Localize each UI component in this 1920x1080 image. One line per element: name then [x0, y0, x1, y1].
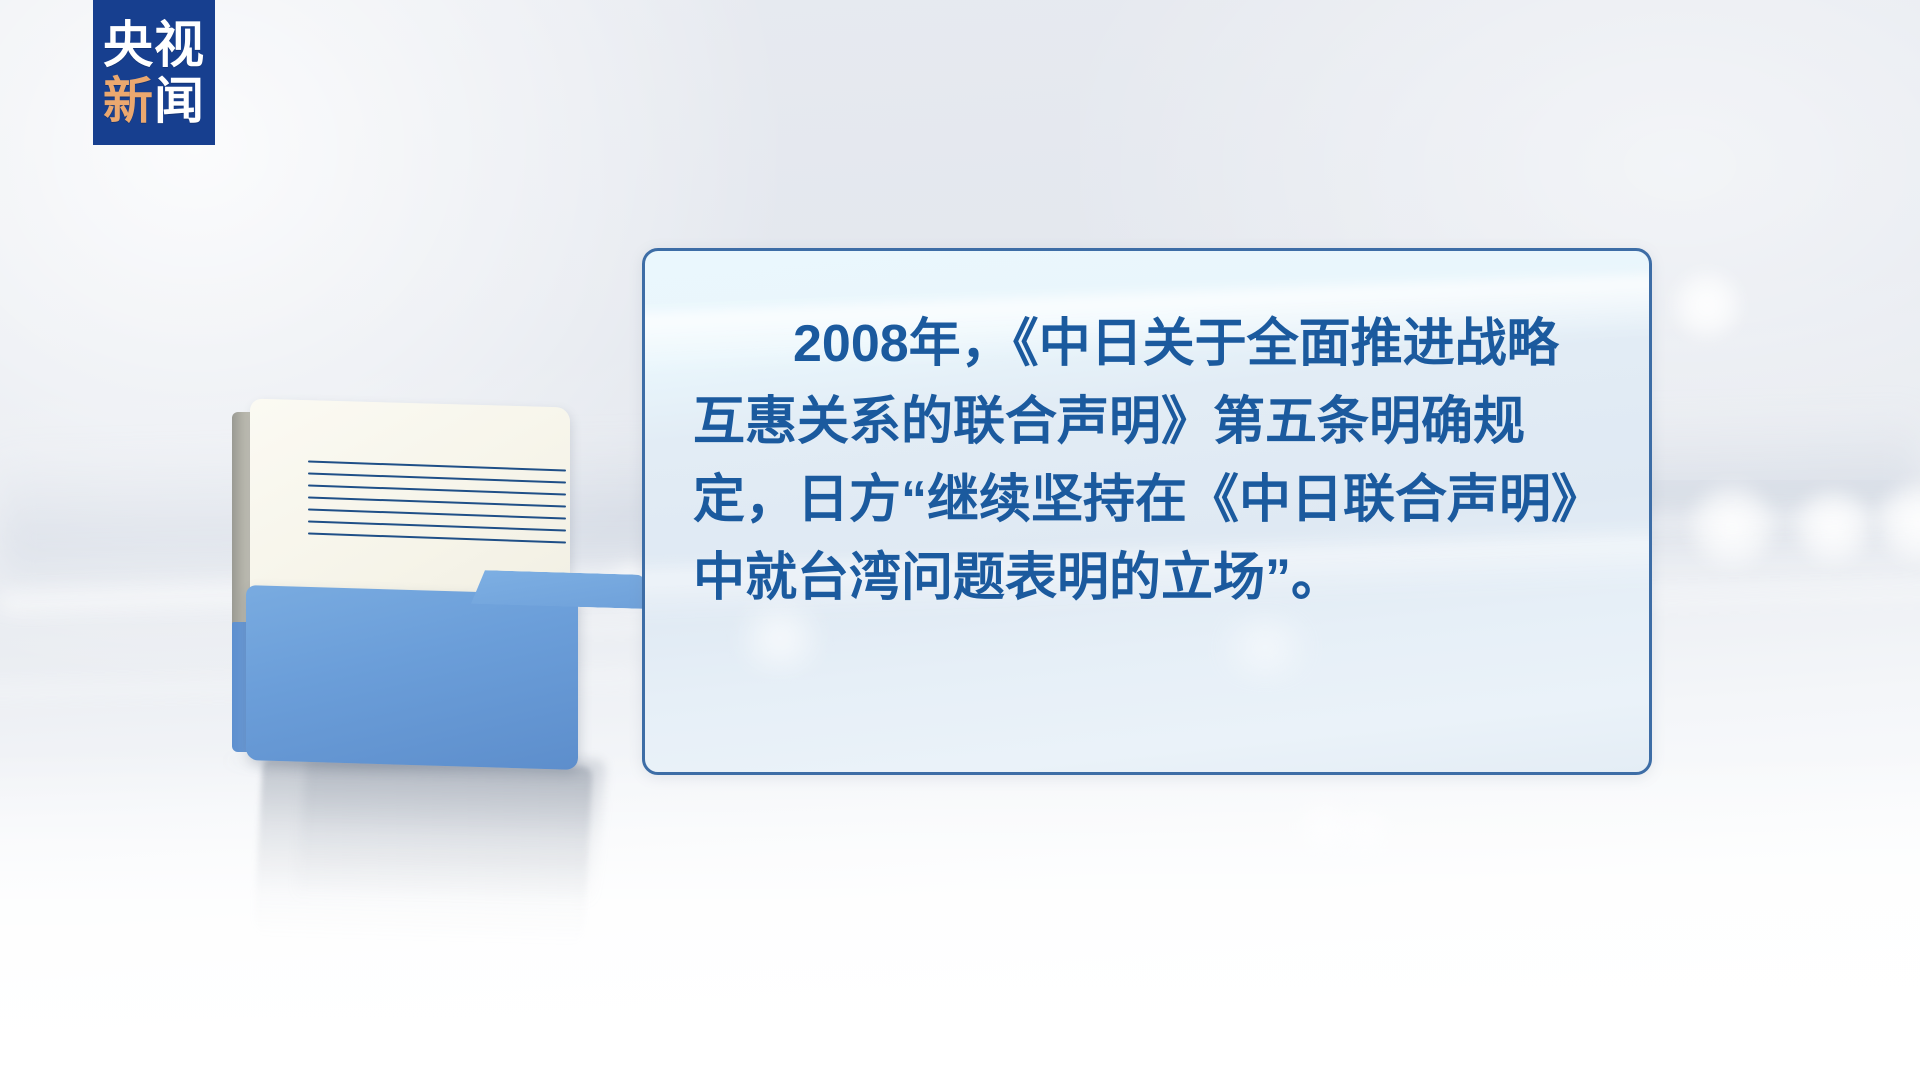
folder-reflection-secondary	[293, 753, 606, 909]
logo-char-wen: 闻	[154, 73, 205, 129]
paper-line	[308, 508, 566, 519]
folder-paper-text-lines	[308, 460, 566, 549]
paper-line	[308, 532, 566, 543]
paper-line	[308, 484, 566, 495]
folder-tab	[471, 570, 646, 609]
broadcast-graphic-stage: 央视 新闻 2008年，《中日关于全面推进战略互惠关系的联合声明》第五条明确规定…	[0, 0, 1920, 1080]
quote-panel: 2008年，《中日关于全面推进战略互惠关系的联合声明》第五条明确规定，日方“继续…	[642, 248, 1652, 775]
paper-line	[308, 472, 566, 483]
logo-line-xinwen: 新闻	[103, 76, 205, 126]
paper-line	[308, 496, 566, 507]
document-folder-icon	[180, 390, 620, 790]
bokeh-light-1	[1668, 266, 1746, 344]
panel-bokeh-2	[1205, 615, 1325, 679]
cctv-news-logo: 央视 新闻	[93, 0, 215, 145]
logo-line-yangshi: 央视	[103, 20, 205, 70]
folder-front-cover	[246, 585, 578, 770]
paper-line	[308, 520, 566, 531]
logo-char-xin: 新	[103, 73, 154, 129]
quote-text: 2008年，《中日关于全面推进战略互惠关系的联合声明》第五条明确规定，日方“继续…	[693, 305, 1605, 617]
